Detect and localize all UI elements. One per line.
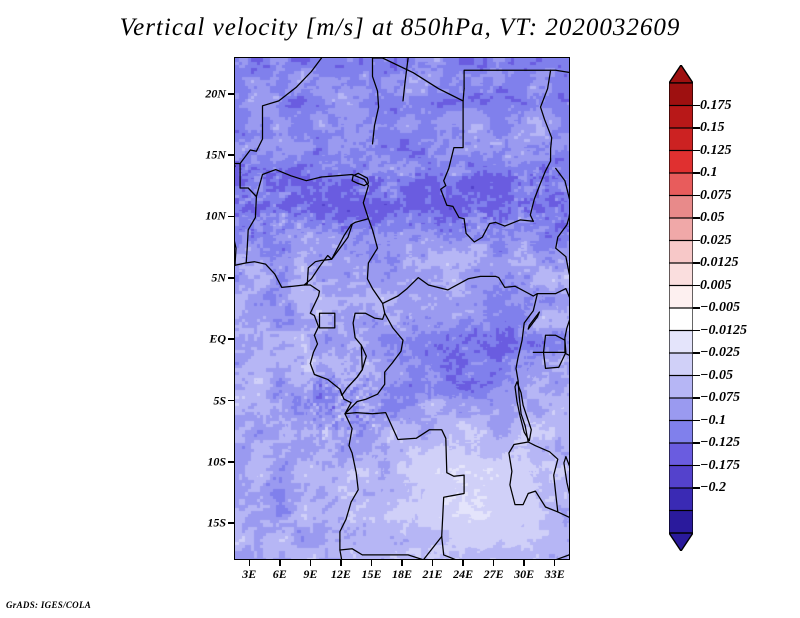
border-path-9 <box>383 276 534 303</box>
colorbar-tick-label-7: 0.0125 <box>700 255 739 271</box>
colorbar-tick-mark-8 <box>693 285 700 287</box>
border-path-24 <box>564 457 570 516</box>
border-path-23 <box>515 382 531 441</box>
colorbar-tick-label-16: −0.175 <box>700 458 740 474</box>
colorbar-tick-mark-14 <box>693 420 700 422</box>
colorbar-tick-mark-7 <box>693 262 700 264</box>
y-axis-tick-mark-3 <box>228 277 234 279</box>
border-path-0 <box>310 335 358 560</box>
colorbar-tick-mark-3 <box>693 172 700 174</box>
colorbar-tick-label-5: 0.05 <box>700 210 725 226</box>
colorbar-tick-label-0: 0.175 <box>700 98 732 114</box>
x-axis-tick-mark-7 <box>462 560 464 566</box>
border-path-32 <box>320 313 335 328</box>
x-axis-tick-label-0: 3E <box>242 567 256 582</box>
colorbar-tick-mark-13 <box>693 397 700 399</box>
x-axis-tick-mark-9 <box>523 560 525 566</box>
colorbar-tick-mark-10 <box>693 330 700 332</box>
map-plot-area[interactable] <box>234 57 570 560</box>
page-title: Vertical velocity [m/s] at 850hPa, VT: 2… <box>0 14 800 42</box>
colorbar-tick-label-10: −0.0125 <box>700 323 747 339</box>
x-axis-tick-label-4: 15E <box>361 567 381 582</box>
y-axis-tick-mark-7 <box>228 522 234 524</box>
colorbar-tick-mark-0 <box>693 105 700 107</box>
colorbar-tick-mark-11 <box>693 352 700 354</box>
colorbar-tick-mark-15 <box>693 442 700 444</box>
border-path-21 <box>352 173 368 185</box>
y-axis-tick-label-3: 5N <box>196 270 226 285</box>
border-path-1 <box>235 262 320 336</box>
colorbar-tick-mark-2 <box>693 150 700 152</box>
border-path-5 <box>441 101 496 242</box>
grads-credit: GrADS: IGES/COLA <box>6 600 91 610</box>
border-path-2 <box>248 170 368 285</box>
y-axis-tick-label-7: 15S <box>196 516 226 531</box>
y-axis-tick-mark-2 <box>228 216 234 218</box>
border-path-4 <box>373 58 379 144</box>
y-axis-tick-mark-0 <box>228 93 234 95</box>
x-axis-tick-mark-10 <box>554 560 556 566</box>
colorbar-tick-mark-17 <box>693 487 700 489</box>
colorbar-tick-mark-9 <box>693 307 700 309</box>
border-path-34 <box>347 345 362 388</box>
y-axis-tick-mark-5 <box>228 400 234 402</box>
border-path-29 <box>235 157 236 265</box>
colorbar-tick-label-4: 0.075 <box>700 188 732 204</box>
border-path-11 <box>509 294 538 505</box>
x-axis-tick-label-9: 30E <box>514 567 534 582</box>
colorbar-tick-label-14: −0.1 <box>700 413 726 429</box>
x-axis-tick-mark-4 <box>371 560 373 566</box>
y-axis-tick-label-2: 10N <box>196 209 226 224</box>
y-axis-tick-mark-4 <box>228 338 234 340</box>
colorbar-tick-label-6: 0.025 <box>700 233 732 249</box>
x-axis-tick-mark-8 <box>493 560 495 566</box>
x-axis-tick-label-1: 6E <box>273 567 287 582</box>
x-axis-tick-mark-2 <box>310 560 312 566</box>
y-axis-tick-label-1: 15N <box>196 148 226 163</box>
border-path-12 <box>345 413 464 560</box>
x-axis-tick-label-3: 12E <box>331 567 351 582</box>
border-path-27 <box>546 512 571 560</box>
x-axis-tick-label-7: 24E <box>453 567 473 582</box>
colorbar-tick-mark-4 <box>693 195 700 197</box>
colorbar-tick-label-12: −0.05 <box>700 368 733 384</box>
y-axis-tick-label-6: 10S <box>196 454 226 469</box>
colorbar[interactable] <box>669 65 693 551</box>
x-axis-tick-label-6: 21E <box>423 567 443 582</box>
x-axis-tick-label-10: 33E <box>545 567 565 582</box>
border-path-30 <box>240 164 256 263</box>
border-path-10 <box>496 220 534 226</box>
colorbar-tick-mark-6 <box>693 240 700 242</box>
x-axis-tick-label-2: 9E <box>303 567 317 582</box>
border-path-14 <box>528 442 558 512</box>
colorbar-tick-label-2: 0.125 <box>700 143 732 159</box>
colorbar-tick-label-8: 0.005 <box>700 278 732 294</box>
y-axis-tick-label-4: EQ <box>196 332 226 347</box>
colorbar-tick-mark-12 <box>693 375 700 377</box>
colorbar-tick-label-13: −0.075 <box>700 390 740 406</box>
colorbar-tick-mark-16 <box>693 465 700 467</box>
colorbar-tick-mark-5 <box>693 217 700 219</box>
colorbar-tick-mark-1 <box>693 127 700 129</box>
y-axis-tick-mark-6 <box>228 461 234 463</box>
y-axis-tick-mark-1 <box>228 154 234 156</box>
border-path-6 <box>373 58 465 101</box>
x-axis-tick-mark-1 <box>279 560 281 566</box>
border-path-3 <box>235 58 322 164</box>
colorbar-tick-label-11: −0.025 <box>700 345 740 361</box>
border-path-13 <box>340 537 442 560</box>
colorbar-tick-label-9: −0.005 <box>700 300 740 316</box>
border-path-17 <box>556 168 570 303</box>
colorbar-tick-label-17: −0.2 <box>700 480 726 496</box>
x-axis-tick-label-8: 27E <box>484 567 504 582</box>
colorbar-tick-label-15: −0.125 <box>700 435 740 451</box>
country-borders-overlay <box>235 58 570 560</box>
x-axis-tick-label-5: 18E <box>392 567 412 582</box>
border-path-18 <box>464 70 570 88</box>
colorbar-tick-label-1: 0.15 <box>700 120 725 136</box>
x-axis-tick-mark-5 <box>401 560 403 566</box>
colorbar-tick-label-3: 0.1 <box>700 165 718 181</box>
x-axis-tick-mark-3 <box>340 560 342 566</box>
border-path-20 <box>530 70 551 221</box>
y-axis-tick-label-0: 20N <box>196 86 226 101</box>
y-axis-tick-label-5: 5S <box>196 393 226 408</box>
border-path-35 <box>403 58 408 101</box>
x-axis-tick-mark-6 <box>432 560 434 566</box>
x-axis-tick-mark-0 <box>249 560 251 566</box>
